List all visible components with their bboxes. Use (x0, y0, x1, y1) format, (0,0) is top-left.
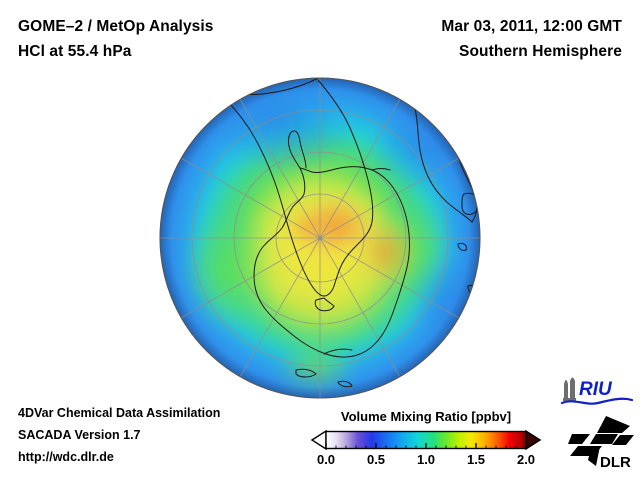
colorbar-tick-label: 1.5 (467, 452, 485, 467)
colorbar-tick-label: 0.5 (367, 452, 385, 467)
credits-block: 4DVar Chemical Data Assimilation SACADA … (18, 402, 220, 468)
colorbar-tick-label: 0.0 (317, 452, 335, 467)
hemisphere-label: Southern Hemisphere (441, 39, 622, 64)
colorbar-low-arrow-cap (312, 431, 326, 449)
riu-logo-svg: RIU (560, 374, 634, 406)
dlr-logo-svg: DLR (566, 414, 636, 470)
riu-logo-text: RIU (579, 379, 613, 400)
globe-map (158, 76, 482, 400)
page-subtitle: HCl at 55.4 hPa (18, 39, 214, 64)
colorbar-tick-label: 1.0 (417, 452, 435, 467)
colorbar-title: Volume Mixing Ratio [ppbv] (310, 409, 542, 424)
dlr-logo: DLR (566, 414, 636, 470)
south-pole-marker (318, 236, 322, 240)
credit-version: SACADA Version 1.7 (18, 424, 220, 446)
colorbar: Volume Mixing Ratio [ppbv] 0.00.51.01.52… (310, 409, 542, 470)
page-title: GOME–2 / MetOp Analysis (18, 14, 214, 39)
credit-url[interactable]: http://wdc.dlr.de (18, 446, 220, 468)
riu-tower-icon (563, 378, 576, 402)
header-right-block: Mar 03, 2011, 12:00 GMT Southern Hemisph… (441, 14, 622, 64)
globe-svg (158, 76, 482, 400)
credit-method: 4DVar Chemical Data Assimilation (18, 402, 220, 424)
dlr-logo-text: DLR (600, 454, 631, 470)
header-left-block: GOME–2 / MetOp Analysis HCl at 55.4 hPa (18, 14, 214, 64)
colorbar-tick-labels: 0.00.51.01.52.0 (310, 452, 542, 470)
riu-logo: RIU (560, 374, 634, 406)
colorbar-gradient (310, 429, 542, 451)
colorbar-high-arrow-cap (526, 431, 540, 449)
timestamp-label: Mar 03, 2011, 12:00 GMT (441, 14, 622, 39)
colorbar-tick-label: 2.0 (517, 452, 535, 467)
